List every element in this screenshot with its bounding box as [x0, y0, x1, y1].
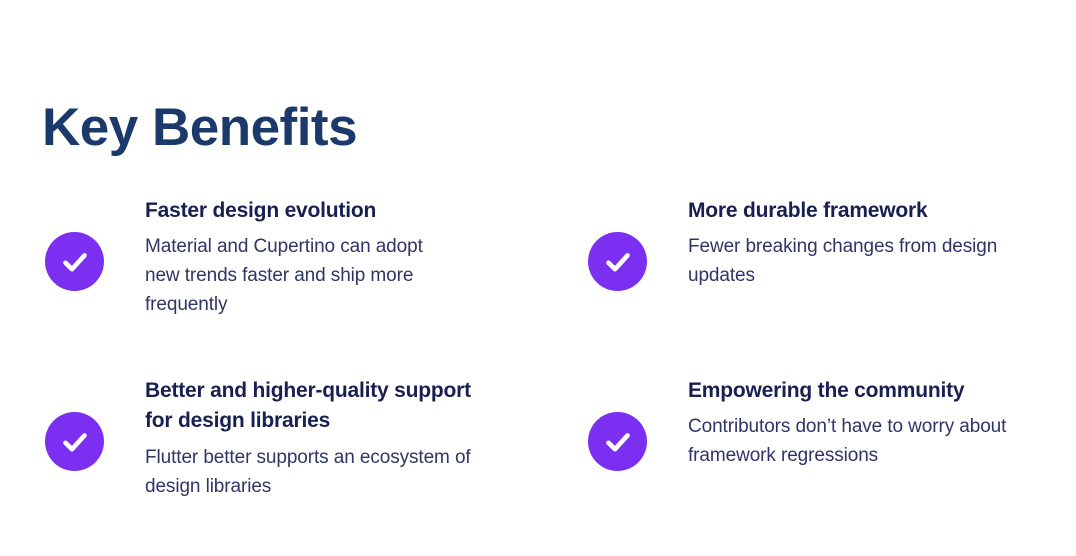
benefit-item-more-durable-framework: More durable framework Fewer breaking ch…: [543, 196, 1076, 376]
benefit-body: Contributors don’t have to worry about f…: [688, 413, 1028, 471]
benefit-item-design-libraries-support: Better and higher-quality support for de…: [0, 376, 533, 556]
benefit-body: Flutter better supports an ecosystem of …: [145, 444, 475, 502]
benefit-text: Faster design evolution Material and Cup…: [145, 196, 445, 320]
benefit-item-empowering-the-community: Empowering the community Contributors do…: [543, 376, 1076, 556]
check-circle-icon: [588, 412, 647, 471]
benefit-text: More durable framework Fewer breaking ch…: [688, 196, 1008, 291]
slide-key-benefits: Key Benefits Faster design evolution Mat…: [0, 0, 1076, 540]
benefit-text: Empowering the community Contributors do…: [688, 376, 1028, 471]
page-title: Key Benefits: [42, 98, 357, 159]
check-circle-icon: [45, 232, 104, 291]
benefit-body: Material and Cupertino can adopt new tre…: [145, 233, 445, 320]
check-circle-icon: [588, 232, 647, 291]
benefit-heading: Better and higher-quality support for de…: [145, 376, 475, 437]
benefits-grid: Faster design evolution Material and Cup…: [0, 196, 1076, 556]
check-circle-icon: [45, 412, 104, 471]
benefit-heading: More durable framework: [688, 196, 1008, 226]
benefit-heading: Empowering the community: [688, 376, 1028, 406]
benefit-heading: Faster design evolution: [145, 196, 445, 226]
benefit-body: Fewer breaking changes from design updat…: [688, 233, 1008, 291]
benefit-text: Better and higher-quality support for de…: [145, 376, 475, 502]
benefit-item-faster-design-evolution: Faster design evolution Material and Cup…: [0, 196, 533, 376]
